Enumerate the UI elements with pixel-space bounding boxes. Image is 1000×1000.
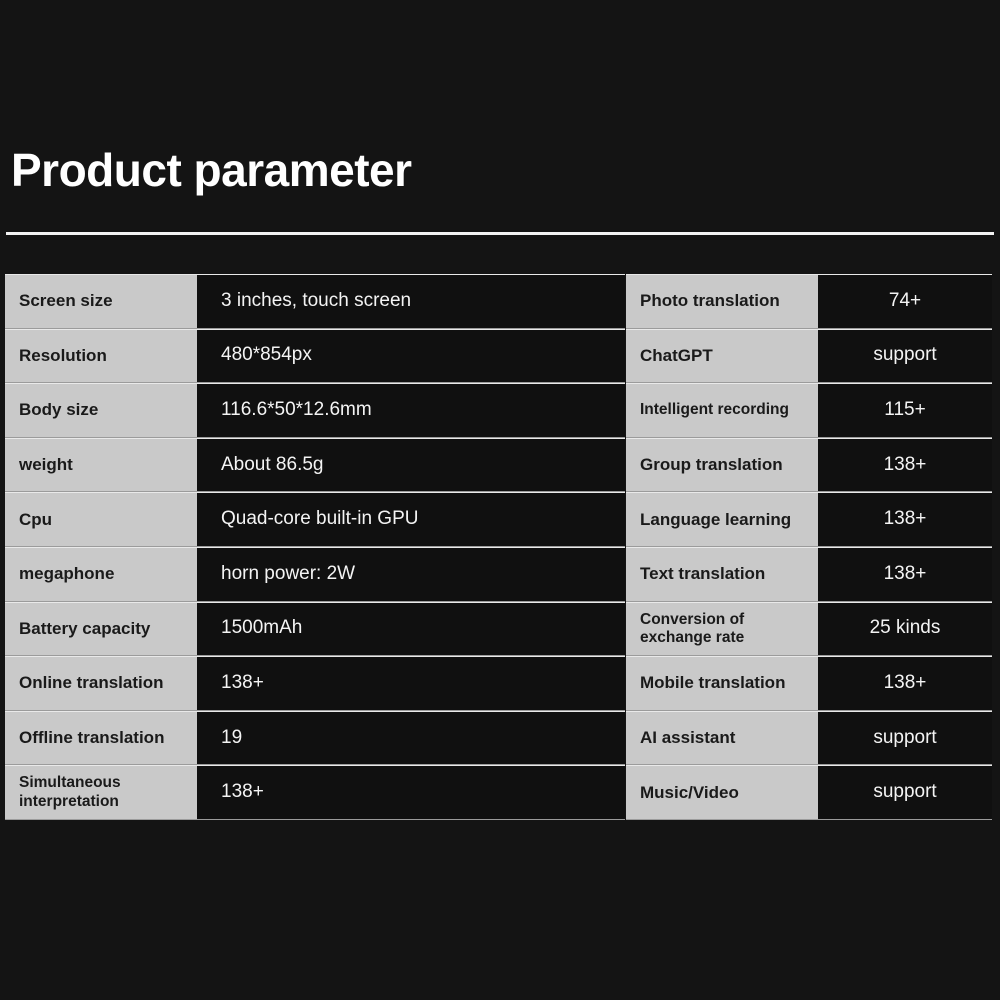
- spec-label-left: Body size: [5, 383, 197, 438]
- spec-value-left: 480*854px: [197, 329, 625, 384]
- spec-value-right: 74+: [818, 274, 992, 329]
- product-parameter-page: Product parameter Screen size3 inches, t…: [0, 0, 1000, 1000]
- spec-label-left: Offline translation: [5, 711, 197, 766]
- table-row: Battery capacity1500mAhConversion of exc…: [5, 602, 992, 657]
- page-title: Product parameter: [11, 144, 412, 197]
- spec-value-right: 138+: [818, 547, 992, 602]
- table-row: CpuQuad-core built-in GPULanguage learni…: [5, 492, 992, 547]
- table-row: Resolution480*854pxChatGPTsupport: [5, 329, 992, 384]
- spec-label-left: weight: [5, 438, 197, 493]
- spec-label-left: megaphone: [5, 547, 197, 602]
- spec-value-left: 138+: [197, 656, 625, 711]
- spec-value-left: 1500mAh: [197, 602, 625, 657]
- spec-value-left: About 86.5g: [197, 438, 625, 493]
- specification-table: Screen size3 inches, touch screenPhoto t…: [5, 274, 992, 820]
- spec-value-left: 116.6*50*12.6mm: [197, 383, 625, 438]
- spec-label-right: Text translation: [626, 547, 818, 602]
- spec-value-right: 115+: [818, 383, 992, 438]
- spec-value-right: 25 kinds: [818, 602, 992, 657]
- spec-label-right: Mobile translation: [626, 656, 818, 711]
- spec-value-left: 3 inches, touch screen: [197, 274, 625, 329]
- spec-label-left: Screen size: [5, 274, 197, 329]
- table-row: Screen size3 inches, touch screenPhoto t…: [5, 274, 992, 329]
- spec-value-left: 19: [197, 711, 625, 766]
- table-row: weightAbout 86.5gGroup translation138+: [5, 438, 992, 493]
- spec-label-left: Simultaneous interpretation: [5, 765, 197, 820]
- spec-label-right: Music/Video: [626, 765, 818, 820]
- spec-label-right: Photo translation: [626, 274, 818, 329]
- spec-value-right: support: [818, 329, 992, 384]
- spec-label-right: Group translation: [626, 438, 818, 493]
- spec-label-right: Language learning: [626, 492, 818, 547]
- spec-value-left: horn power: 2W: [197, 547, 625, 602]
- table-row: Body size116.6*50*12.6mmIntelligent reco…: [5, 383, 992, 438]
- spec-label-left: Online translation: [5, 656, 197, 711]
- spec-value-right: support: [818, 711, 992, 766]
- spec-label-right: ChatGPT: [626, 329, 818, 384]
- title-divider: [6, 232, 994, 235]
- table-row: megaphonehorn power: 2WText translation1…: [5, 547, 992, 602]
- spec-label-right: Intelligent recording: [626, 383, 818, 438]
- table-row: Offline translation19AI assistantsupport: [5, 711, 992, 766]
- spec-value-right: support: [818, 765, 992, 820]
- spec-value-left: Quad-core built-in GPU: [197, 492, 625, 547]
- spec-label-left: Battery capacity: [5, 602, 197, 657]
- spec-label-left: Resolution: [5, 329, 197, 384]
- table-row: Online translation138+Mobile translation…: [5, 656, 992, 711]
- spec-value-left: 138+: [197, 765, 625, 820]
- table-row: Simultaneous interpretation138+Music/Vid…: [5, 765, 992, 820]
- spec-value-right: 138+: [818, 438, 992, 493]
- spec-label-right: AI assistant: [626, 711, 818, 766]
- spec-label-right: Conversion of exchange rate: [626, 602, 818, 657]
- spec-value-right: 138+: [818, 656, 992, 711]
- spec-value-right: 138+: [818, 492, 992, 547]
- spec-label-left: Cpu: [5, 492, 197, 547]
